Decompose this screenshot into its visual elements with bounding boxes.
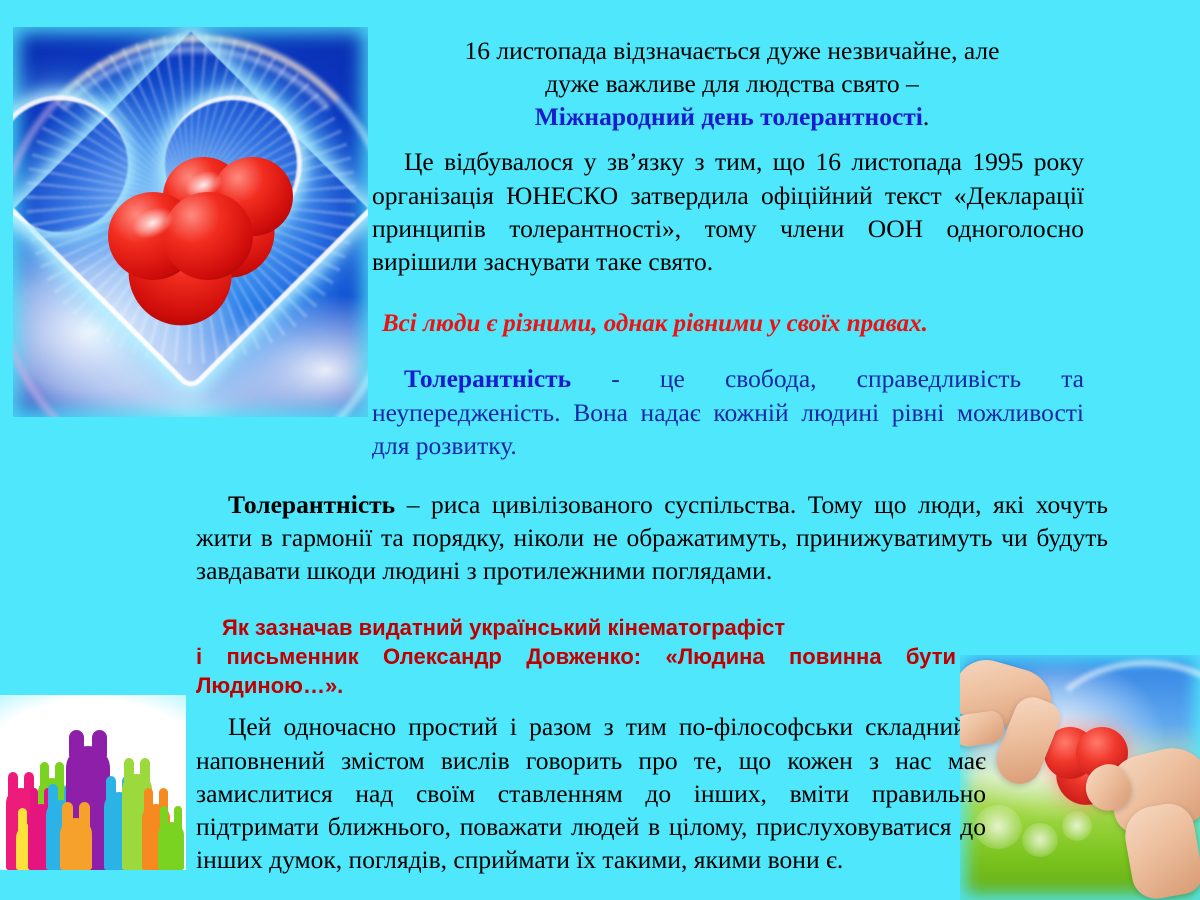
society-paragraph: Толерантність – риса цивілізованого сусп… bbox=[196, 488, 1108, 587]
slide-canvas: 16 листопада відзначається дуже незвичай… bbox=[0, 0, 1200, 900]
hand-orange bbox=[60, 818, 92, 870]
red-heart-front-icon bbox=[108, 192, 253, 334]
equality-quote: Всі люди є різними, однак рівними у свої… bbox=[382, 308, 1082, 341]
final-block: Цей одночасно простий і разом з тим по-ф… bbox=[196, 710, 986, 876]
dovzhenko-line-1: Як зазначав видатний український кінемат… bbox=[196, 613, 956, 642]
text-column: 16 листопада відзначається дуже незвичай… bbox=[196, 34, 1108, 876]
intro-period: . bbox=[923, 102, 929, 131]
heart-lobe-right bbox=[163, 192, 253, 280]
definition-paragraph: Толерантність - це свобода, справедливіс… bbox=[372, 362, 1084, 461]
unesco-paragraph: Це відбувалося у зв’язку з тим, що 16 ли… bbox=[372, 145, 1084, 278]
holiday-name-highlight: Міжнародний день толерантності bbox=[535, 102, 923, 131]
intro-line-3: Міжнародний день толерантності. bbox=[382, 100, 1082, 133]
definition-lead-word: Толерантність bbox=[404, 364, 571, 393]
hand-green-3 bbox=[158, 822, 184, 870]
society-block: Толерантність – риса цивілізованого сусп… bbox=[196, 488, 1108, 587]
red-quote-block: Всі люди є різними, однак рівними у свої… bbox=[382, 308, 1082, 341]
intro-block: 16 листопада відзначається дуже незвичай… bbox=[382, 34, 1082, 133]
dovzhenko-line-2: і письменник Олександр Довженко: «Людина… bbox=[196, 642, 956, 700]
colorful-raised-hands-illustration bbox=[0, 695, 186, 870]
definition-block: Толерантність - це свобода, справедливіс… bbox=[372, 362, 1084, 461]
society-lead-word: Толерантність bbox=[228, 490, 395, 519]
right-hand-wrist bbox=[1121, 800, 1200, 900]
final-paragraph: Цей одночасно простий і разом з тим по-ф… bbox=[196, 710, 986, 876]
dovzhenko-quote-block: Як зазначав видатний український кінемат… bbox=[196, 613, 956, 700]
unesco-block: Це відбувалося у зв’язку з тим, що 16 ли… bbox=[372, 145, 1084, 278]
intro-line-2: дуже важливе для людства свято – bbox=[382, 67, 1082, 100]
intro-line-1: 16 листопада відзначається дуже незвичай… bbox=[382, 34, 1082, 67]
